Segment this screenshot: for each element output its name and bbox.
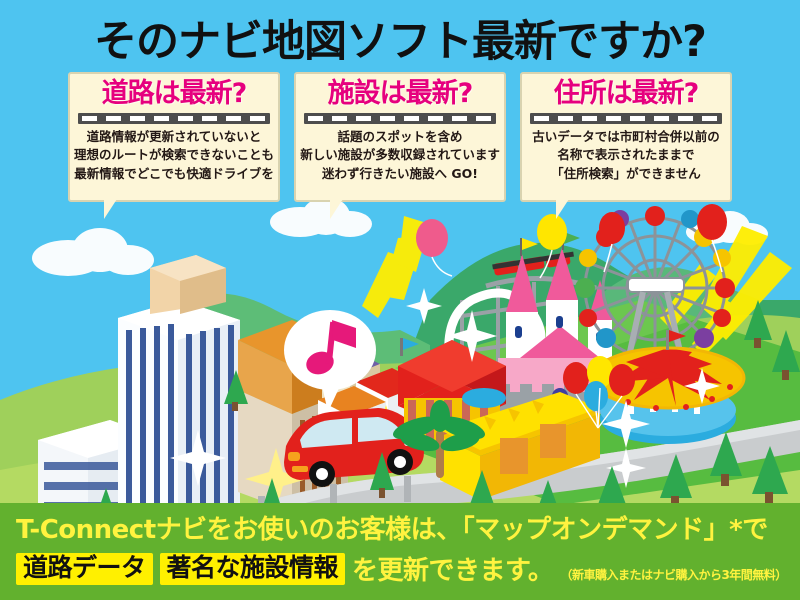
banner-tail-text: を更新できます。 xyxy=(352,550,553,587)
road-dashed-line-icon xyxy=(530,113,722,124)
poster-root: そのナビ地図ソフト最新ですか? 道路は最新? 道路情報が更新されていないと 理想… xyxy=(0,0,800,600)
callout-address-line2: 名称で表示されたままで xyxy=(557,146,694,164)
callout-road-line2: 理想のルートが検索できないことも xyxy=(74,146,274,164)
callout-address-line3: 「住所検索」ができません xyxy=(551,165,701,183)
callout-facility-title: 施設は最新? xyxy=(328,80,473,108)
callout-address: 住所は最新? 古いデータでは市町村合併以前の 名称で表示されたままで 「住所検索… xyxy=(520,72,732,202)
callout-address-line1: 古いデータでは市町村合併以前の xyxy=(532,128,720,146)
bottom-banner: T-Connectナビをお使いのお客様は、「マップオンデマンド」*で 道路データ… xyxy=(0,503,800,600)
page-headline: そのナビ地図ソフト最新ですか? xyxy=(0,8,800,68)
callout-facility: 施設は最新? 話題のスポットを含め 新しい施設が多数収録されています 迷わず行き… xyxy=(294,72,506,202)
callout-facility-line2: 新しい施設が多数収録されています xyxy=(300,146,500,164)
callout-group: 道路は最新? 道路情報が更新されていないと 理想のルートが検索できないことも 最… xyxy=(0,72,800,207)
callout-road-line3: 最新情報でどこでも快適ドライブを xyxy=(74,165,274,183)
banner-second-line: 道路データ 著名な施設情報 を更新できます。 （新車購入またはナビ購入から3年間… xyxy=(16,550,800,587)
callout-address-title: 住所は最新? xyxy=(554,80,699,108)
chip-road-data: 道路データ xyxy=(16,553,153,585)
callout-road-title: 道路は最新? xyxy=(102,80,247,108)
banner-headline: T-Connectナビをお使いのお客様は、「マップオンデマンド」*で xyxy=(16,516,800,546)
road-dashed-line-icon xyxy=(304,113,496,124)
callout-facility-line1: 話題のスポットを含め xyxy=(337,128,462,146)
road-dashed-line-icon xyxy=(78,113,270,124)
callout-road-line1: 道路情報が更新されていないと xyxy=(87,128,262,146)
chip-facility-info: 著名な施設情報 xyxy=(160,553,346,585)
callout-facility-line3: 迷わず行きたい施設へ GO! xyxy=(322,165,478,183)
callout-road: 道路は最新? 道路情報が更新されていないと 理想のルートが検索できないことも 最… xyxy=(68,72,280,202)
banner-footnote: （新車購入またはナビ購入から3年間無料） xyxy=(560,566,786,583)
